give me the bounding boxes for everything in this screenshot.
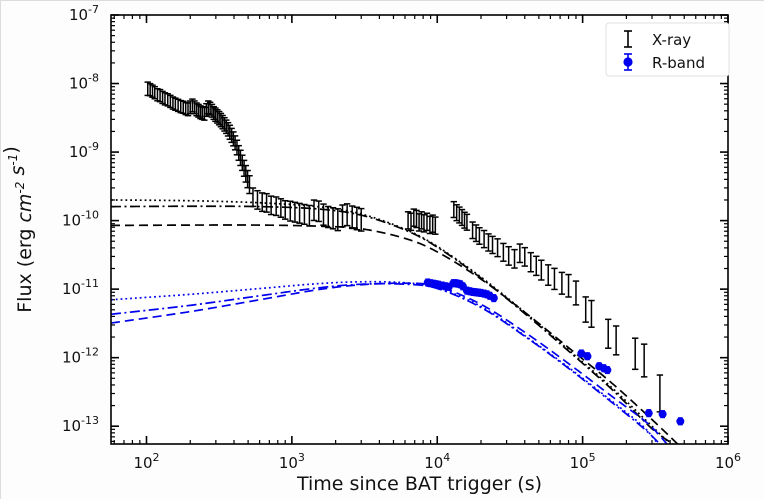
legend: X-rayR-band [606,23,729,76]
figure-canvas: 102103104105106 10-710-810-910-1010-1110… [0,0,764,499]
x-axis-title-text: Time since BAT trigger (s) [296,473,542,495]
legend-label: X-ray [652,31,691,49]
legend-label: R-band [652,54,705,72]
x-axis-title: Time since BAT trigger (s) [296,473,542,495]
scatter-plot: 102103104105106 10-710-810-910-1010-1110… [1,1,764,500]
